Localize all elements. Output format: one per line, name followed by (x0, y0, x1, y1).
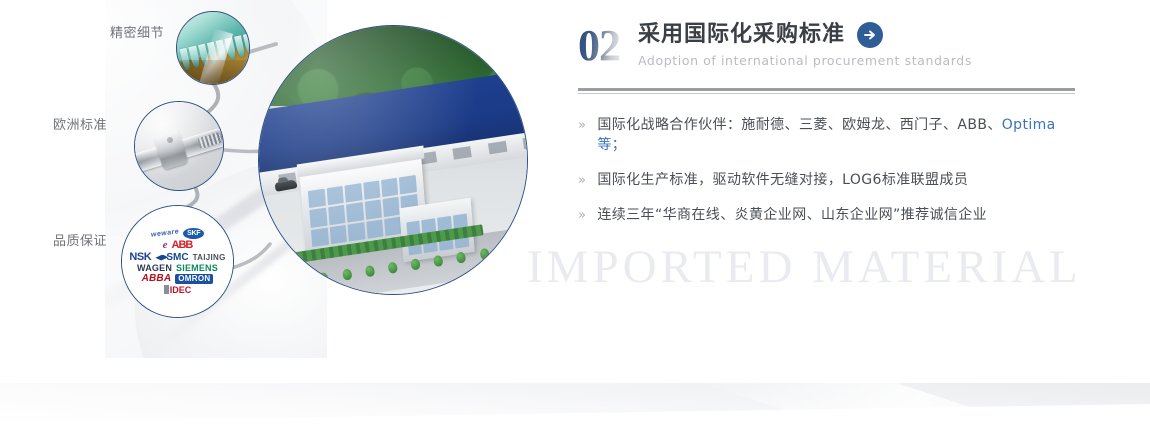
title-row: 采用国际化采购标准 (638, 22, 972, 48)
brand-logo-collage: weware SKF e ABB NSK SMC TAIJING WAGEN S… (122, 206, 233, 317)
list-item: » 国际化战略合作伙伴：施耐德、三菱、欧姆龙、西门子、ABB、Optima等； (578, 114, 1078, 154)
chevron-double-right-icon: » (578, 208, 586, 223)
logo-idec: IDEC (164, 285, 192, 295)
arrow-right-circle-icon[interactable] (857, 22, 883, 48)
section-titles: 采用国际化采购标准 Adoption of international proc… (638, 22, 972, 68)
gear-teeth-image (177, 12, 249, 84)
promo-banner: 精密细节 欧洲标准 品质保证 weware SKF (0, 0, 1150, 430)
list-item: » 连续三年“华商在线、炎黄企业网、山东企业网”推荐诚信企业 (578, 204, 1078, 224)
european-standard-thumb[interactable] (134, 101, 224, 191)
shaft-gloss (135, 102, 223, 190)
band-streak (701, 383, 1119, 423)
label-quality-assurance: 品质保证 (53, 230, 107, 249)
section-number: 02 (578, 22, 620, 68)
watermark-text: IMPORTED MATERIAL (527, 240, 1082, 294)
logo-wagen: WAGEN (137, 264, 172, 273)
logo-smc: SMC (155, 253, 188, 263)
logo-nsk: NSK (129, 252, 151, 263)
divider-thick-line (578, 88, 1075, 91)
band-sheet (0, 383, 1150, 423)
logo-abb: ABB (172, 240, 193, 251)
logo-siemens: SIEMENS (176, 264, 218, 273)
list-item-text: 连续三年“华商在线、炎黄企业网、山东企业网”推荐诚信企业 (597, 204, 987, 224)
divider-thin-line (578, 93, 1075, 94)
list-item-text: 国际化生产标准，驱动软件无缝对接，LOG6标准联盟成员 (597, 169, 968, 189)
logo-weware: weware (150, 228, 179, 238)
label-precision-detail: 精密细节 (110, 22, 164, 41)
section-content: 02 采用国际化采购标准 Adoption of international p… (578, 22, 1078, 239)
logo-omron: OMRON (175, 274, 213, 284)
chevron-double-right-icon: » (578, 118, 586, 133)
bottom-decorative-band (0, 383, 1150, 423)
chevron-double-right-icon: » (578, 173, 586, 188)
logo-abba: ABBA (142, 274, 172, 284)
page-title: 采用国际化采购标准 (638, 23, 845, 47)
factory-scene (259, 26, 527, 294)
label-european-standard: 欧洲标准 (53, 114, 107, 133)
logo-e: e (163, 240, 168, 251)
factory-aerial-photo[interactable] (258, 25, 528, 295)
section-header: 02 采用国际化采购标准 Adoption of international p… (578, 22, 1078, 80)
header-divider (578, 88, 1075, 94)
logo-taijing: TAIJING (193, 254, 226, 262)
list-item-text: 国际化战略合作伙伴：施耐德、三菱、欧姆龙、西门子、ABB、Optima等； (597, 114, 1078, 154)
list-item: » 国际化生产标准，驱动软件无缝对接，LOG6标准联盟成员 (578, 169, 1078, 189)
ball-screw-image (135, 102, 223, 190)
bullet-list: » 国际化战略合作伙伴：施耐德、三菱、欧姆龙、西门子、ABB、Optima等； … (578, 114, 1078, 224)
photo-sheen (259, 26, 527, 294)
logo-skf: SKF (183, 228, 204, 239)
precision-detail-thumb[interactable] (176, 11, 250, 85)
page-subtitle: Adoption of international procurement st… (638, 53, 972, 68)
quality-assurance-thumb[interactable]: weware SKF e ABB NSK SMC TAIJING WAGEN S… (121, 205, 234, 318)
gear-shadow (177, 60, 249, 84)
